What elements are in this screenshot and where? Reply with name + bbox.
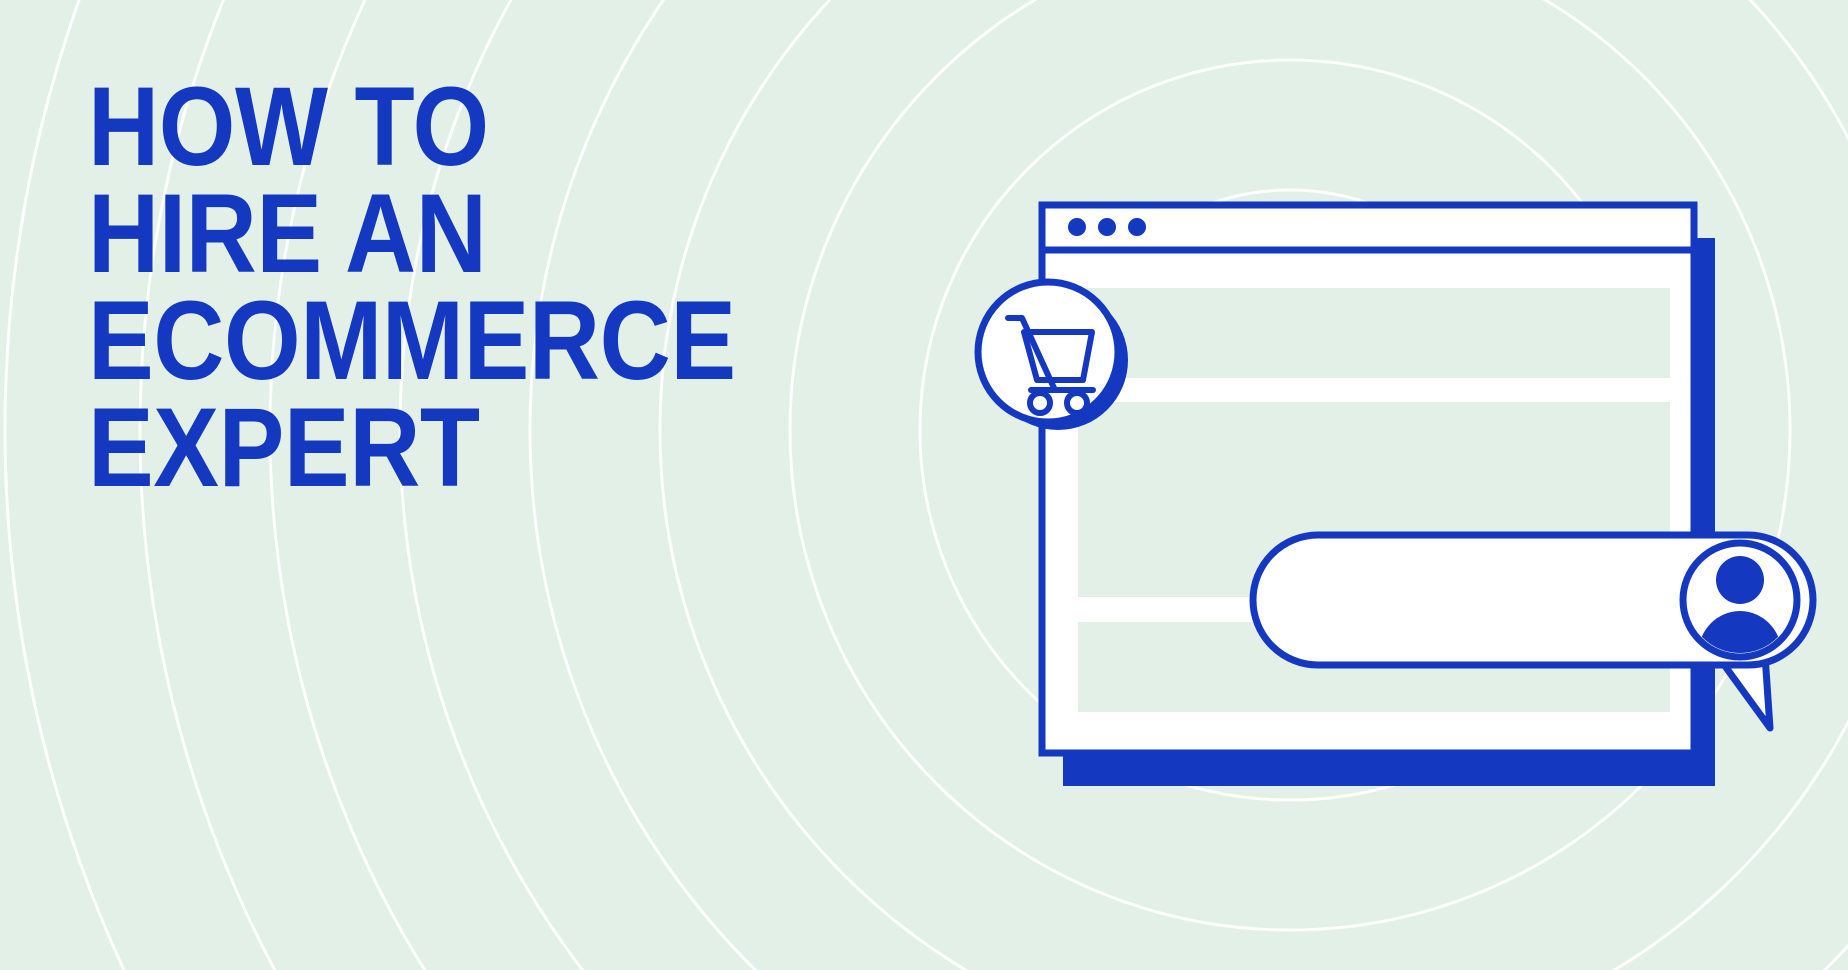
headline-line-3: ECOMMERCE xyxy=(88,288,736,395)
headline-line-1: HOW TO xyxy=(88,74,736,181)
headline-line-2: HIRE AN xyxy=(88,181,736,288)
page-title: HOW TO HIRE AN ECOMMERCE EXPERT xyxy=(88,74,736,502)
poster-canvas: HOW TO HIRE AN ECOMMERCE EXPERT xyxy=(0,0,1848,970)
headline-line-4: EXPERT xyxy=(88,395,736,502)
